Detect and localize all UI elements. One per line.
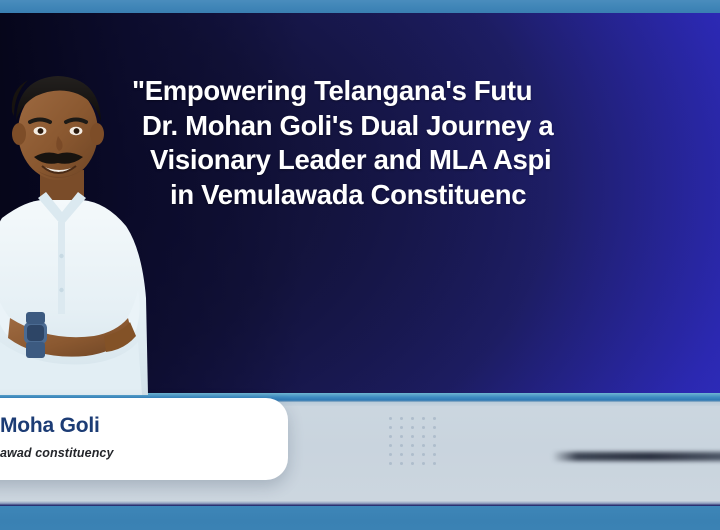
speaker-name: Moha Goli [0, 414, 100, 438]
headline: "Empowering Telangana's Futu Dr. Mohan G… [132, 74, 720, 212]
bottom-edge-strip [0, 506, 720, 530]
decorative-shadow-bar [552, 452, 720, 461]
top-edge-strip [0, 0, 720, 13]
politician-portrait-photo [0, 50, 152, 395]
speaker-name-card: Moha Goli awad constituency [0, 398, 288, 480]
headline-line-3: Visionary Leader and MLA Aspi [132, 143, 720, 178]
speaker-constituency: awad constituency [0, 446, 114, 460]
headline-line-4: in Vemulawada Constituenc [132, 178, 720, 213]
headline-line-2: Dr. Mohan Goli's Dual Journey a [132, 109, 720, 144]
decorative-dot-grid [389, 417, 444, 471]
headline-line-1: "Empowering Telangana's Futu [132, 74, 720, 109]
banner-stage: "Empowering Telangana's Futu Dr. Mohan G… [0, 0, 720, 530]
